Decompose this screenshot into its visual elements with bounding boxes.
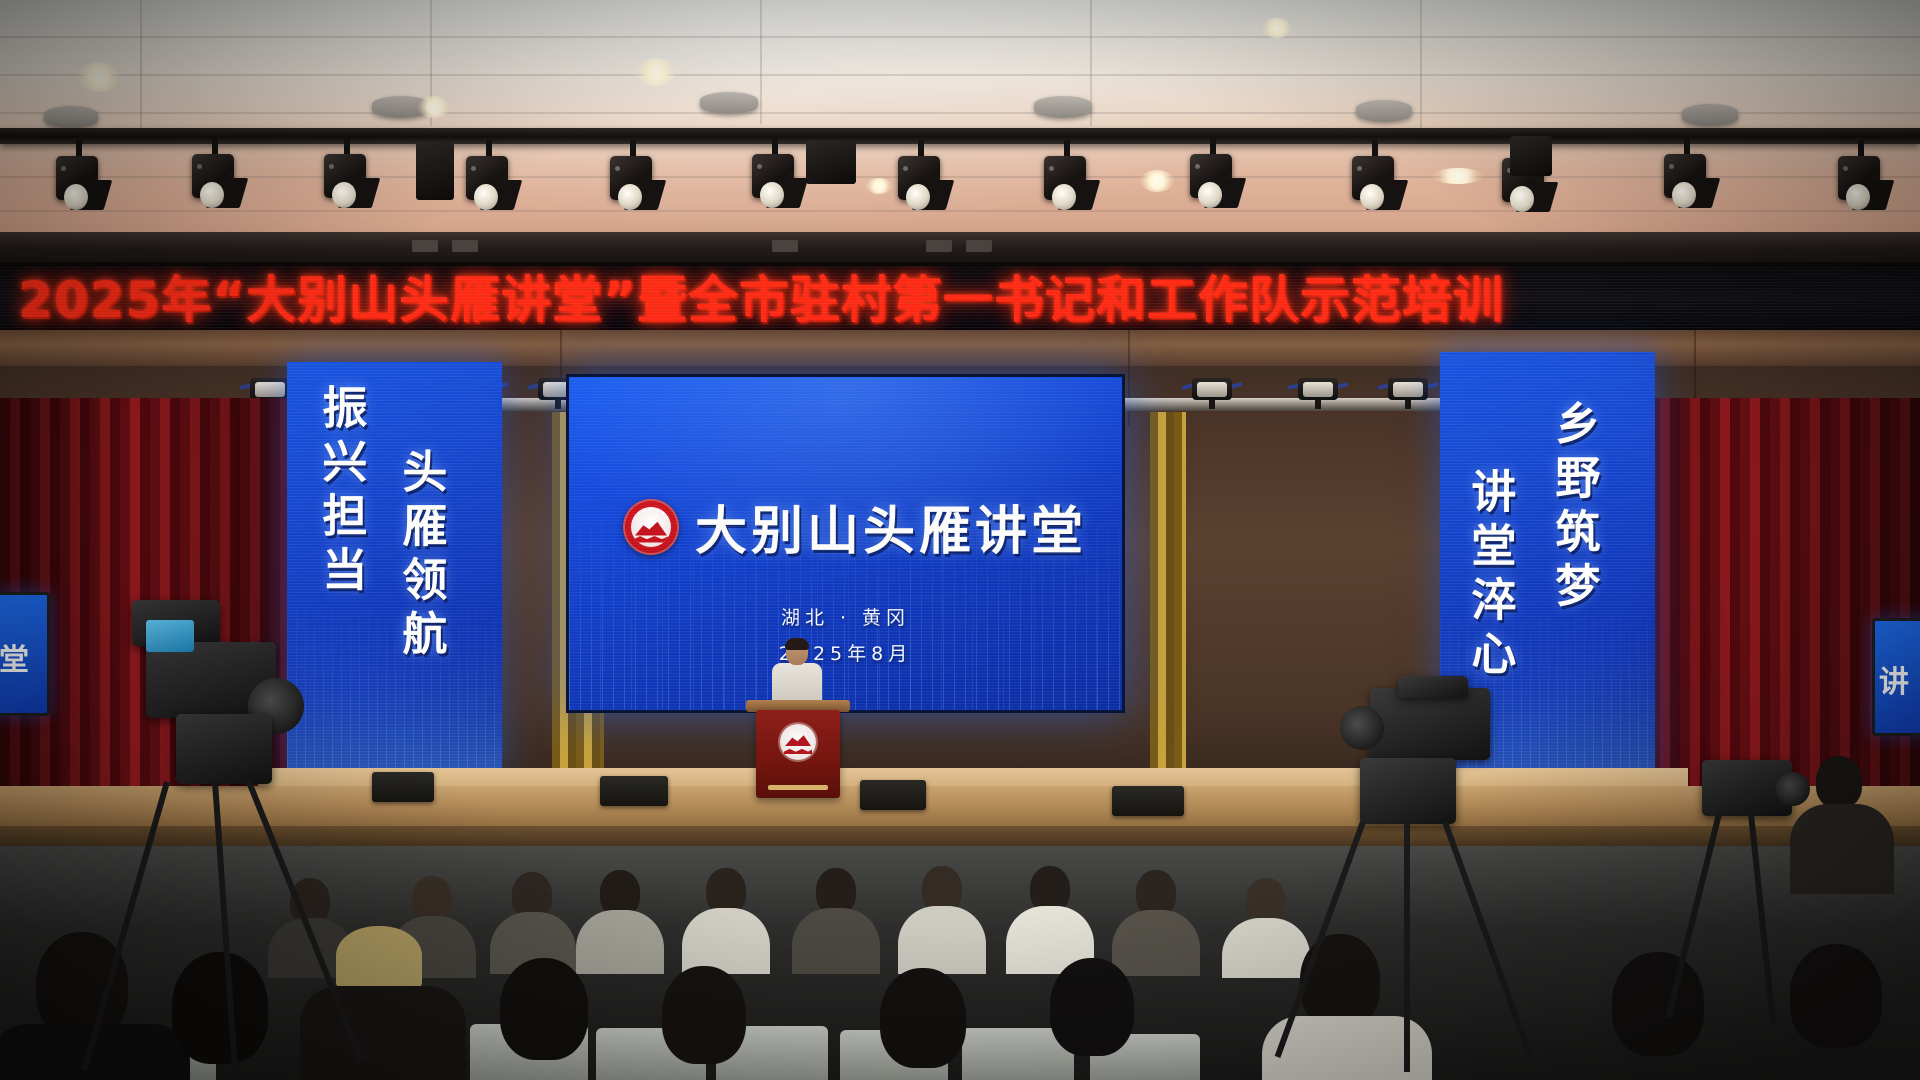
audience-head-foreground: [1050, 958, 1134, 1056]
camera-body: [1370, 688, 1490, 760]
ceiling-panel-seam: [0, 210, 1920, 212]
audience-shoulders: [898, 906, 986, 974]
stage-spotlight: [1348, 140, 1402, 218]
stage-spotlight: [894, 140, 948, 218]
audience-shoulders: [682, 908, 770, 974]
wash-light: [1386, 378, 1430, 412]
camera-viewfinder-screen: [146, 620, 194, 652]
wash-light: [1190, 378, 1234, 412]
audience-head-foreground: [500, 958, 588, 1060]
stage-floor-monitor: [1112, 786, 1184, 816]
left-panel-column-1: 振兴担当: [311, 384, 370, 600]
ceiling-vent: [700, 92, 758, 114]
stage-spotlight: [748, 138, 802, 216]
wall-monitor-right-text: 讲: [1879, 657, 1909, 701]
ceiling-lighting-truss: [0, 128, 1920, 144]
stage-spotlight: [606, 140, 660, 218]
ceiling-downlight: [1262, 18, 1292, 38]
ceiling-downlight: [866, 178, 892, 194]
screen-subtitle-location: 湖北 · 黄冈: [569, 603, 1122, 630]
stage-spotlight: [462, 140, 516, 218]
ceiling-downlight: [1140, 170, 1174, 192]
left-panel-column-2: 头雁领航: [391, 448, 450, 664]
ceiling-panel-seam: [0, 36, 1920, 38]
screen-subtitle-date: 2025年8月: [569, 639, 1122, 666]
right-panel-column-1: 讲堂淬心: [1460, 468, 1519, 684]
ceiling-panel-seam: [760, 0, 762, 124]
wall-monitor-right: 讲: [1872, 618, 1920, 736]
stage-spotlight: [1834, 140, 1888, 218]
camera-body: [1398, 676, 1468, 698]
line-array-speaker: [806, 140, 856, 184]
ceiling-downlight: [636, 58, 676, 86]
led-banner: 2025年“大别山头雁讲堂”暨全市驻村第一书记和工作队示范培训: [0, 266, 1920, 334]
audience-head-foreground: [36, 932, 128, 1038]
wall-monitor-left: 堂: [0, 592, 50, 716]
audience-shoulders: [576, 910, 664, 974]
stage-spotlight: [52, 140, 106, 218]
ceiling-vent: [1682, 104, 1738, 126]
stage-spotlight: [1186, 138, 1240, 216]
stage-floor-monitor: [860, 780, 926, 810]
audience-shoulders: [792, 908, 880, 974]
line-array-speaker: [1510, 136, 1552, 176]
audience-head-foreground: [880, 968, 966, 1068]
line-array-speaker: [416, 142, 454, 200]
presenter: [770, 640, 824, 708]
stage-spotlight: [320, 138, 374, 216]
camera-operator-body: [1790, 804, 1894, 894]
ceiling-downlight: [418, 96, 450, 118]
led-banner-text: 2025年“大别山头雁讲堂”暨全市驻村第一书记和工作队示范培训: [18, 268, 1504, 332]
wash-light: [1296, 378, 1340, 412]
ceiling-panel-seam: [1420, 0, 1422, 128]
wall-monitor-left-text: 堂: [0, 635, 29, 679]
audience-head-foreground: [662, 966, 746, 1064]
stage-spotlight: [188, 138, 242, 216]
stage-spotlight: [1040, 140, 1094, 218]
camera-body: [1360, 758, 1456, 824]
huanggang-emblem-icon: [623, 499, 679, 555]
screen-title-row: 大别山头雁讲堂: [623, 489, 1087, 564]
stage-floor-monitor: [372, 772, 434, 802]
ceiling-downlight: [1432, 168, 1484, 184]
ceiling-panel-seam: [0, 176, 1920, 178]
conference-hall-photo: 2025年“大别山头雁讲堂”暨全市驻村第一书记和工作队示范培训 振兴担当 头雁领…: [0, 0, 1920, 1080]
camera-rig-left: [120, 596, 350, 1076]
stage-floor-monitor: [600, 776, 668, 806]
main-led-screen: 大别山头雁讲堂 湖北 · 黄冈 2025年8月: [566, 374, 1125, 713]
ceiling-vent: [1356, 100, 1412, 122]
audience-shoulders: [1222, 918, 1310, 978]
ceiling-panel-seam: [0, 74, 1920, 76]
camera-rig-right: [1330, 676, 1570, 1076]
ceiling-vent: [1034, 96, 1092, 118]
camera-body: [176, 714, 272, 784]
stage-proscenium-band: [0, 232, 1920, 268]
camera-operator-head: [1816, 756, 1862, 808]
camera-lens: [1776, 772, 1810, 806]
audience-shoulders: [1112, 910, 1200, 976]
ceiling-panel-seam: [0, 112, 1920, 114]
gold-drape-right: [1150, 412, 1186, 822]
right-panel-column-2: 乡野筑梦: [1544, 400, 1603, 616]
ceiling-vent: [44, 106, 98, 128]
ceiling-downlight: [78, 62, 120, 92]
speaking-podium: [752, 700, 844, 798]
wall-seam: [1128, 330, 1130, 426]
screen-main-title: 大别山头雁讲堂: [695, 489, 1087, 564]
ceiling-panel-seam: [140, 0, 142, 130]
camera-lens: [1340, 706, 1384, 750]
podium-emblem-icon: [780, 724, 816, 760]
stage-spotlight: [1660, 138, 1714, 216]
